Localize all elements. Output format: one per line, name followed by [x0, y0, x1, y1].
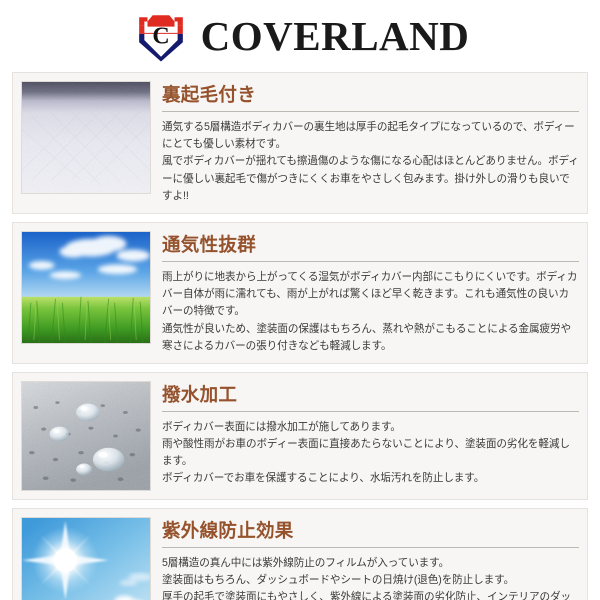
water-droplets-on-fabric-photo	[21, 381, 151, 491]
page-root: C COVERLAND	[0, 0, 600, 600]
blue-sky-grass-field-photo	[21, 231, 151, 344]
bright-sun-blue-sky-photo	[21, 517, 151, 600]
coverland-shield-icon: C	[135, 10, 187, 62]
title-divider	[162, 411, 579, 412]
feature-title: 裏起毛付き	[162, 83, 579, 111]
feature-card-uv-protection: 紫外線防止効果 5層構造の真ん中には紫外線防止のフィルムが入っています。 塗装面…	[12, 508, 588, 600]
title-divider	[162, 547, 579, 548]
svg-text:C: C	[152, 23, 169, 49]
feature-body: 通気性抜群 雨上がりに地表から上がってくる湿気がボディカバー内部にこもりにくいで…	[162, 231, 579, 355]
fleece-fabric-texture-photo	[21, 81, 151, 194]
site-header: C COVERLAND	[0, 0, 600, 72]
feature-card-water-repellent: 撥水加工 ボディカバー表面には撥水加工が施してあります。 雨や酸性雨がお車のボデ…	[12, 372, 588, 500]
feature-title: 撥水加工	[162, 383, 579, 411]
feature-description: 通気する5層構造ボディカバーの裏生地は厚手の起毛タイプになっているので、ボディー…	[162, 119, 579, 205]
feature-body: 紫外線防止効果 5層構造の真ん中には紫外線防止のフィルムが入っています。 塗装面…	[162, 517, 579, 600]
feature-list: 裏起毛付き 通気する5層構造ボディカバーの裏生地は厚手の起毛タイプになっているの…	[0, 72, 600, 600]
brand-wordmark: COVERLAND	[201, 16, 470, 57]
feature-description: 雨上がりに地表から上がってくる湿気がボディカバー内部にこもりにくいです。ボディカ…	[162, 269, 579, 355]
title-divider	[162, 261, 579, 262]
feature-description: ボディカバー表面には撥水加工が施してあります。 雨や酸性雨がお車のボディー表面に…	[162, 419, 579, 488]
feature-description: 5層構造の真ん中には紫外線防止のフィルムが入っています。 塗装面はもちろん、ダッ…	[162, 555, 579, 600]
title-divider	[162, 111, 579, 112]
feature-title: 紫外線防止効果	[162, 519, 579, 547]
feature-title: 通気性抜群	[162, 233, 579, 261]
feature-card-breathability: 通気性抜群 雨上がりに地表から上がってくる湿気がボディカバー内部にこもりにくいで…	[12, 222, 588, 364]
feature-body: 撥水加工 ボディカバー表面には撥水加工が施してあります。 雨や酸性雨がお車のボデ…	[162, 381, 579, 488]
feature-card-fleece-lining: 裏起毛付き 通気する5層構造ボディカバーの裏生地は厚手の起毛タイプになっているの…	[12, 72, 588, 214]
feature-body: 裏起毛付き 通気する5層構造ボディカバーの裏生地は厚手の起毛タイプになっているの…	[162, 81, 579, 205]
